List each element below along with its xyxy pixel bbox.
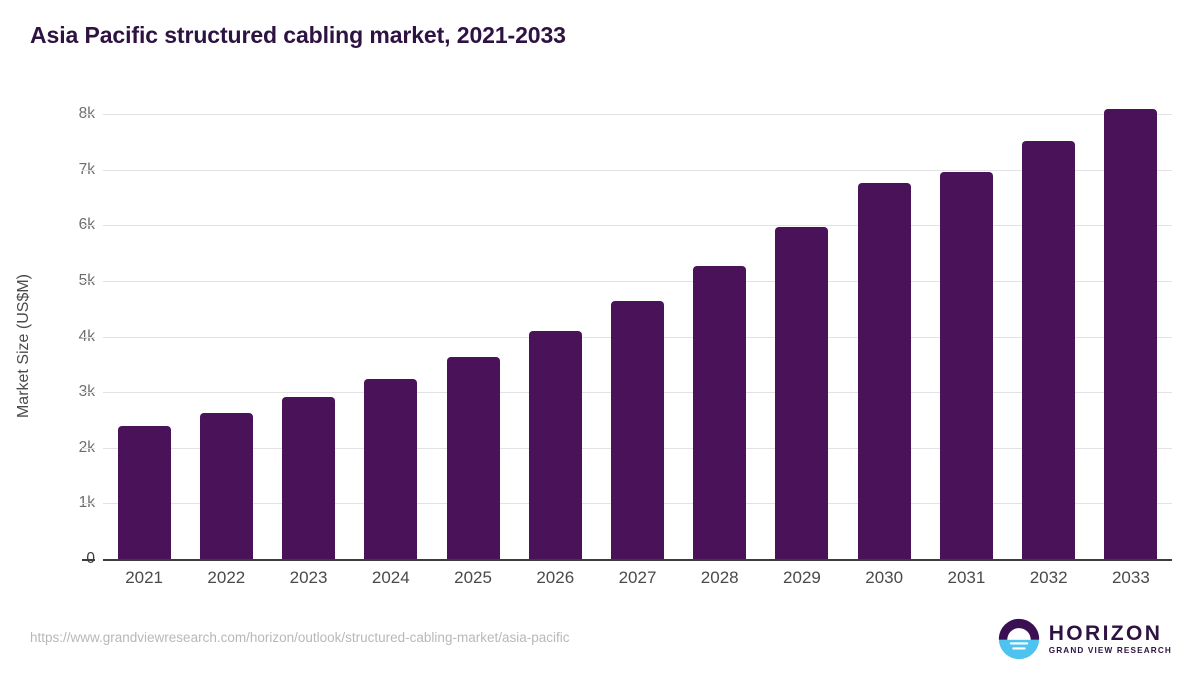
logo-tagline: GRAND VIEW RESEARCH [1049,647,1172,655]
bar[interactable] [447,357,500,559]
x-axis-tick-label: 2033 [1112,568,1150,588]
bar[interactable] [200,413,253,559]
bar[interactable] [611,301,664,559]
y-axis-tick-mark [82,448,95,449]
x-axis-tick-label: 2021 [125,568,163,588]
y-axis-tick-mark [82,281,95,282]
gridline [103,225,1172,226]
x-axis-tick-label: 2032 [1030,568,1068,588]
bar[interactable] [364,379,417,559]
logo-wordmark: HORIZON [1049,623,1172,644]
chart-page: Asia Pacific structured cabling market, … [0,0,1200,675]
x-axis-tick-label: 2030 [865,568,903,588]
bar[interactable] [775,227,828,559]
gridline [103,114,1172,115]
y-axis-tick-mark [82,170,95,171]
y-axis-tick-mark [82,225,95,226]
bar[interactable] [940,172,993,559]
y-axis-tick-mark [82,503,95,504]
bar[interactable] [1104,109,1157,559]
page-title: Asia Pacific structured cabling market, … [30,22,566,49]
bar[interactable] [693,266,746,559]
bar[interactable] [858,183,911,559]
logo-text: HORIZON GRAND VIEW RESEARCH [1049,623,1172,655]
bar[interactable] [118,426,171,560]
x-axis-tick-label: 2022 [207,568,245,588]
brand-logo: HORIZON GRAND VIEW RESEARCH [998,618,1172,660]
horizon-sunrise-icon [998,618,1040,660]
y-axis-tick-mark [82,114,95,115]
gridline [103,281,1172,282]
bar[interactable] [282,397,335,559]
x-axis-tick-label: 2023 [290,568,328,588]
x-axis-tick-label: 2026 [536,568,574,588]
plot-area [103,114,1172,559]
x-axis-line [103,559,1172,561]
x-axis-tick-label: 2029 [783,568,821,588]
bar[interactable] [1022,141,1075,559]
bar[interactable] [529,331,582,559]
x-axis-tick-label: 2028 [701,568,739,588]
x-axis-tick-label: 2025 [454,568,492,588]
gridline [103,170,1172,171]
y-axis-tick-mark [82,559,95,561]
y-axis-tick-mark [82,337,95,338]
x-axis-tick-label: 2027 [619,568,657,588]
y-axis-tick-mark [82,392,95,393]
source-url[interactable]: https://www.grandviewresearch.com/horizo… [30,630,569,645]
x-axis-tick-label: 2031 [948,568,986,588]
x-axis-tick-label: 2024 [372,568,410,588]
y-axis-tick-labels: 01k2k3k4k5k6k7k8k [0,0,95,675]
